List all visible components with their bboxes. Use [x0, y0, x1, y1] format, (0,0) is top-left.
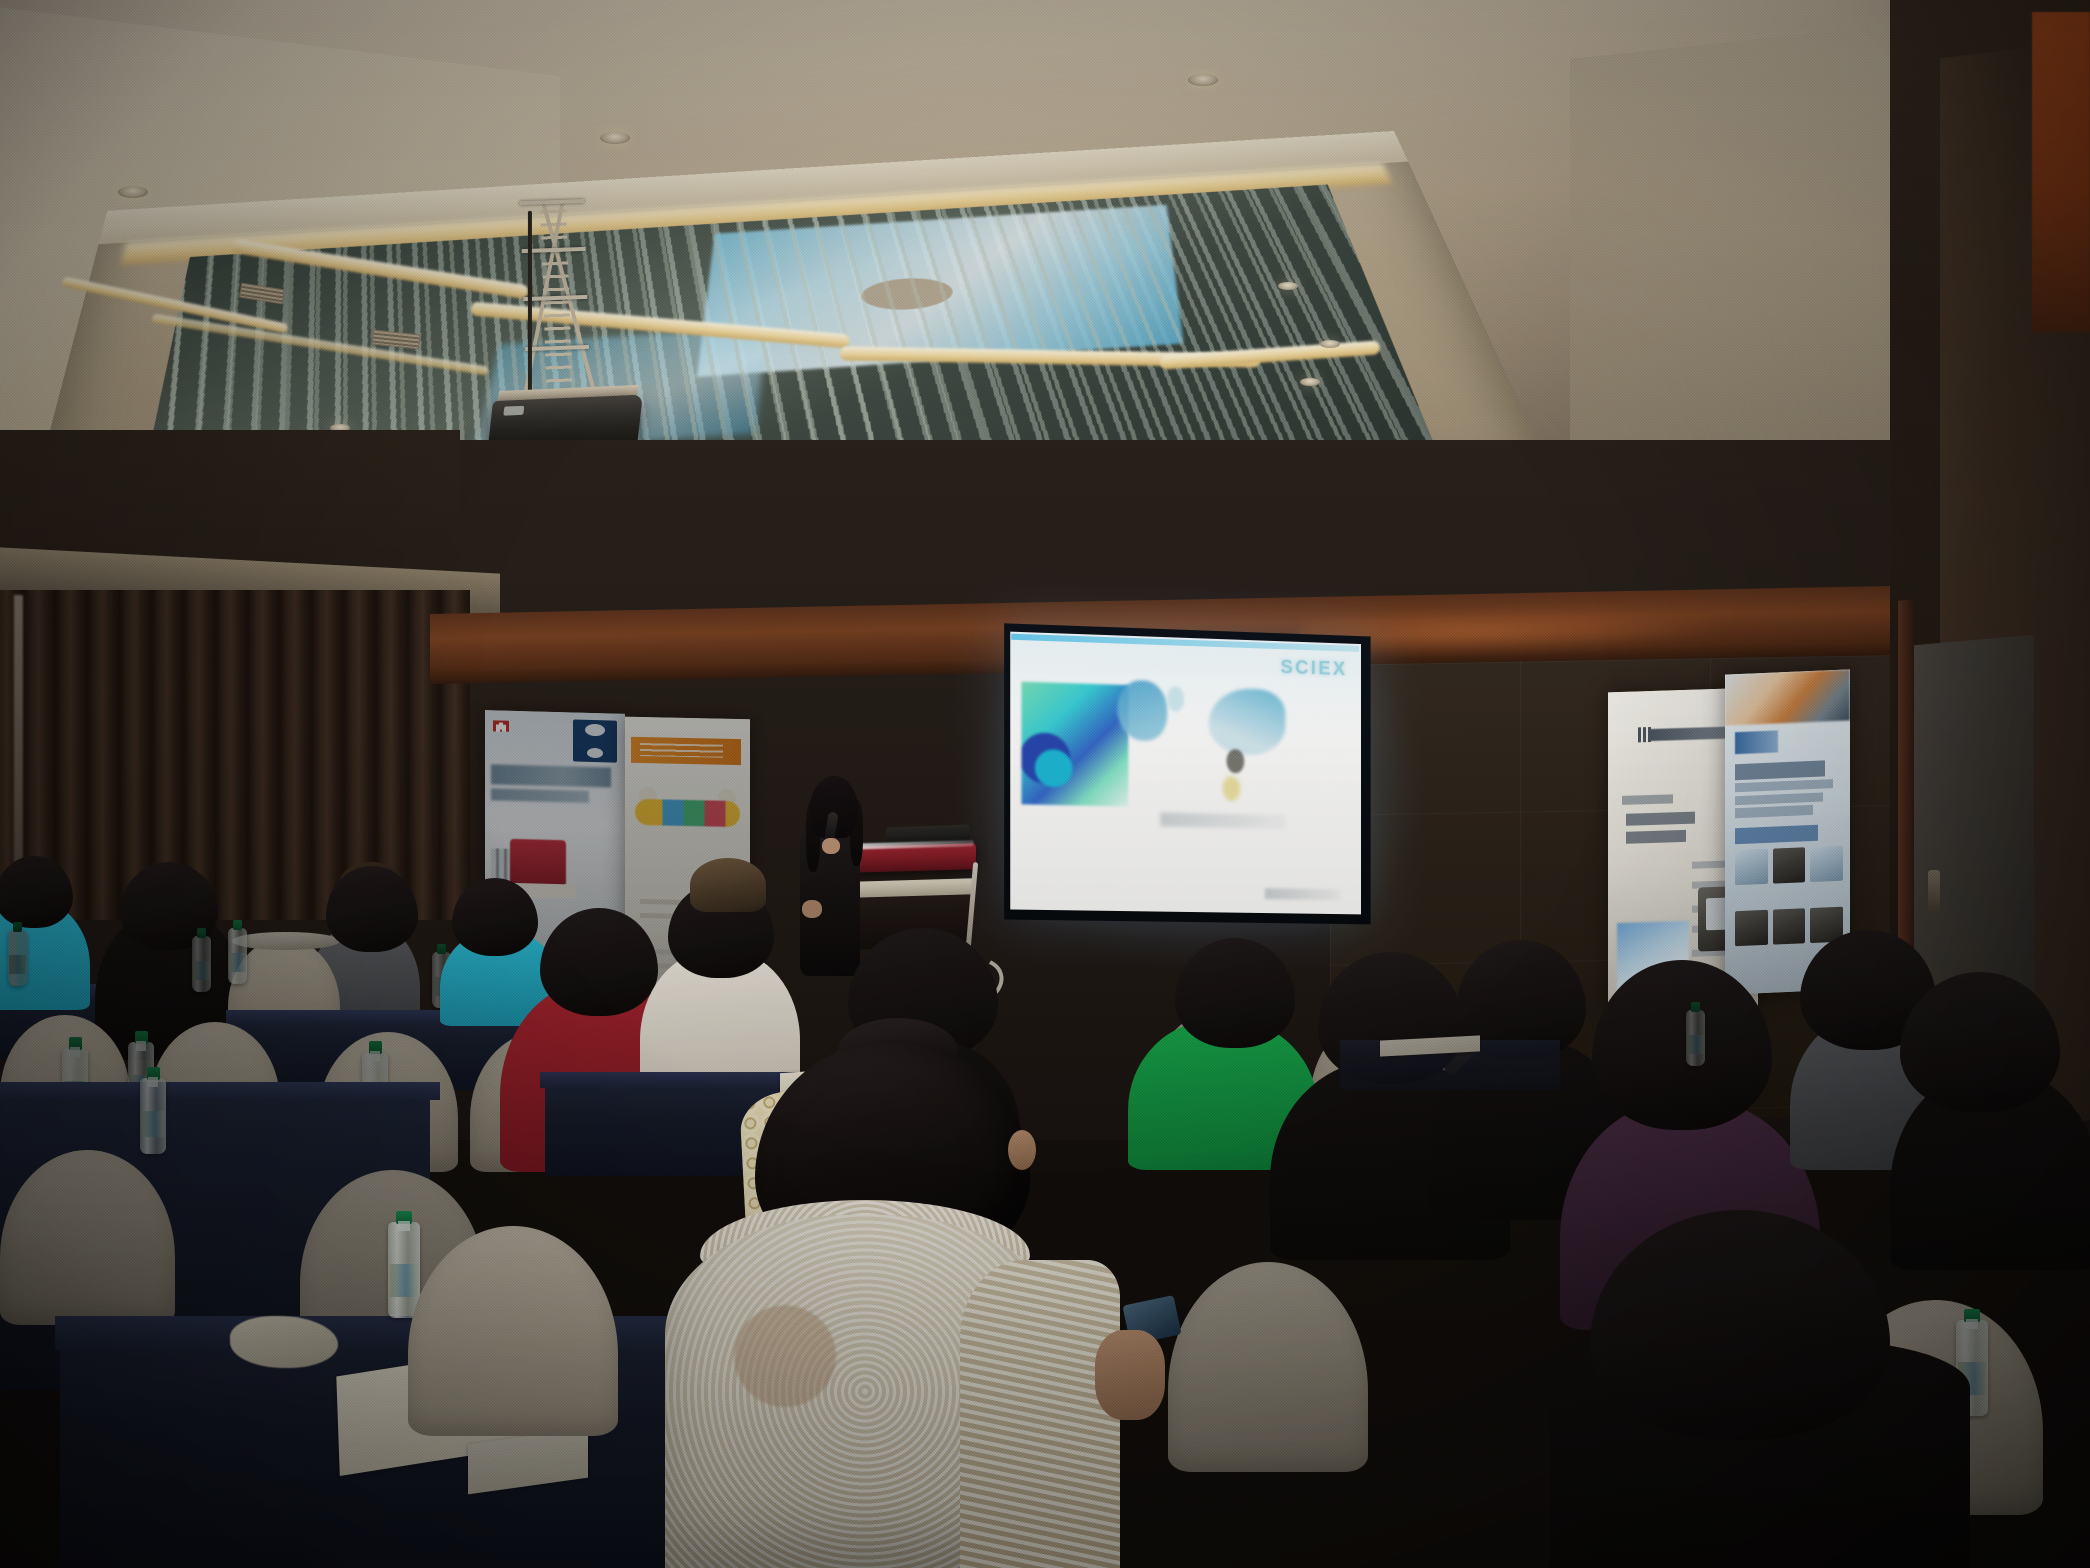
slide-image-e [1167, 687, 1185, 712]
banner-top-image [1725, 669, 1850, 725]
ceiling-downlight [1278, 282, 1298, 290]
swiss-flag-icon [493, 720, 509, 731]
projection-screen: SCIEX [1004, 623, 1370, 924]
conference-room-photo: SCIEX [0, 0, 2090, 1568]
slide-caption-bar [1160, 813, 1286, 829]
slide-photo-collage [1021, 682, 1128, 807]
banner-product-image [1773, 847, 1806, 884]
banner-product-name [1622, 794, 1673, 805]
process-flow-graphic [635, 799, 740, 827]
lectern-shelf [852, 878, 974, 897]
slide-image-b [1209, 688, 1285, 756]
banner-product-image [1735, 849, 1768, 886]
banner-product-image [1810, 846, 1843, 883]
ceiling-downlight [600, 132, 630, 144]
water-bottle [1686, 1010, 1705, 1066]
banner-headline-line [1626, 830, 1686, 844]
banner-logo [1735, 730, 1778, 754]
chair [1168, 1262, 1368, 1472]
presenter-hand [802, 900, 822, 918]
banner-subheadline [491, 788, 589, 803]
table-cloth-edge [55, 1316, 755, 1350]
audience-arm [1095, 1330, 1165, 1420]
sciex-logo: SCIEX [1280, 657, 1347, 681]
presenter-hand [822, 838, 840, 854]
ceiling-downlight [1188, 74, 1218, 86]
banner-product-image [510, 839, 566, 886]
table-cloth-edge [0, 1082, 440, 1100]
water-bottle [192, 936, 211, 992]
ceiling-downlight [118, 186, 148, 198]
water-bottle [228, 928, 247, 984]
slide-image-d [1223, 776, 1240, 801]
water-bottle [8, 930, 27, 986]
projection-screen-surface: SCIEX [1010, 632, 1361, 915]
banner-product-image [1773, 908, 1806, 945]
audience-hair-bun [690, 858, 766, 912]
banner-header-text [640, 743, 723, 758]
door-handle[interactable] [1928, 870, 1940, 912]
chair-back-rim [232, 932, 340, 950]
water-bottle [388, 1222, 420, 1318]
window-curtain [0, 590, 470, 920]
audience-ear [1008, 1130, 1036, 1170]
slide-image-a [1117, 680, 1166, 742]
slide-image-c [1226, 749, 1243, 774]
banner-headline-line [1626, 812, 1695, 826]
slide-footer-bar [1265, 889, 1341, 901]
filtrox-logo [573, 719, 617, 762]
ceiling-downlight [1300, 378, 1320, 386]
water-bottle [140, 1078, 166, 1154]
lace-sleeve [960, 1260, 1120, 1568]
screen-top-edge-glow [1011, 634, 1359, 652]
ceiling-downlight [1320, 340, 1340, 348]
banner-headline [491, 764, 611, 787]
banner-text-line [640, 913, 675, 919]
wall-accent-light [2032, 12, 2090, 332]
banner-product-image [1735, 910, 1768, 947]
